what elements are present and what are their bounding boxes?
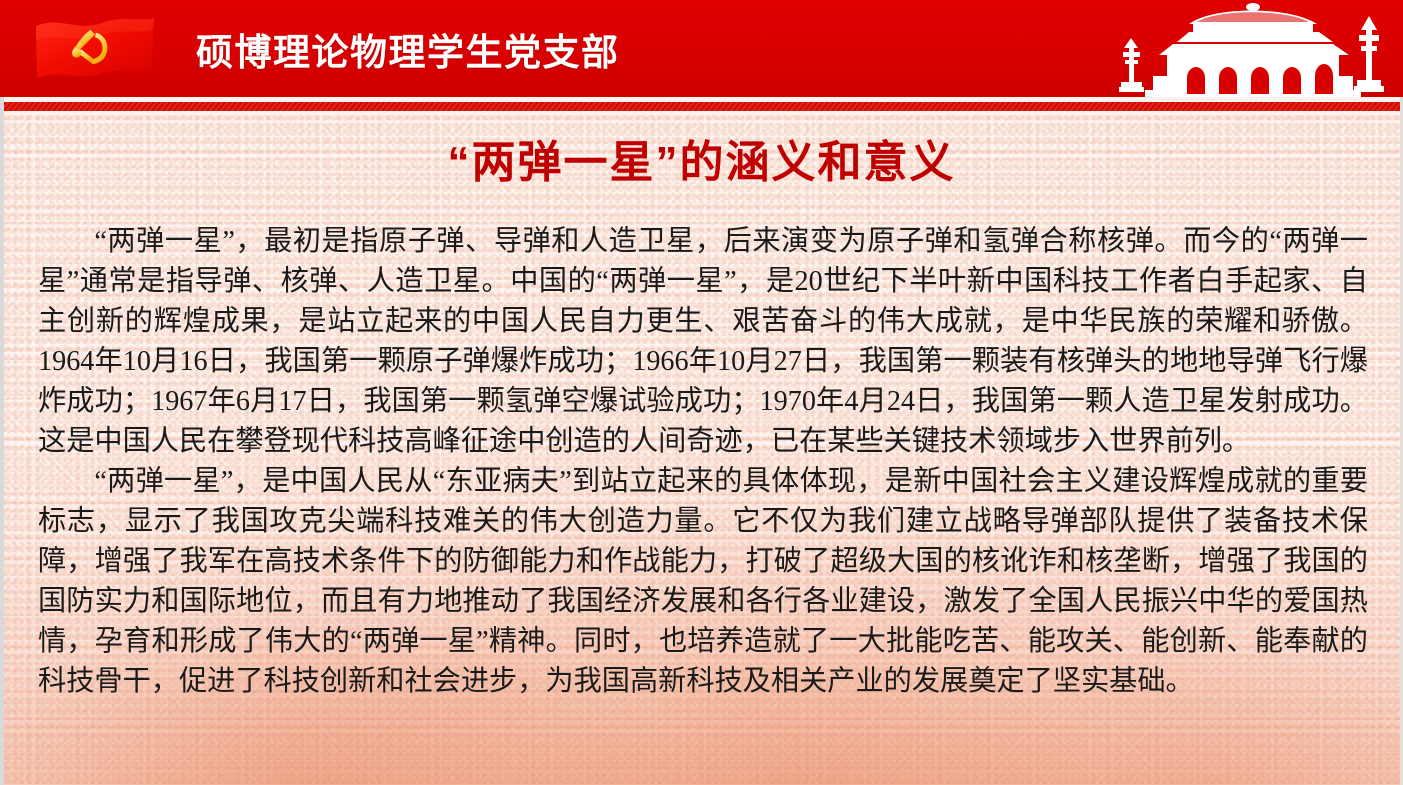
divider-striped-band: [0, 102, 1403, 111]
paragraph-2: “两弹一星”，是中国人民从“东亚病夫”到站立起来的具体体现，是新中国社会主义建设…: [38, 462, 1368, 702]
slide-header: 硕博理论物理学生党支部: [0, 0, 1403, 97]
header-title: 硕博理论物理学生党支部: [196, 22, 620, 76]
paragraph-1: “两弹一星”，最初是指原子弹、导弹和人造卫星，后来演变为原子弹和氢弹合称核弹。而…: [38, 222, 1368, 462]
page-edge-left: [0, 97, 4, 785]
tiananmen-gate-icon: [1093, 0, 1403, 97]
slide-title: “两弹一星”的涵义和意义: [0, 126, 1403, 190]
presentation-slide: 硕博理论物理学生党支部: [0, 0, 1403, 785]
party-flag-hammer-sickle-icon: [34, 12, 156, 86]
body-content: “两弹一星”，最初是指原子弹、导弹和人造卫星，后来演变为原子弹和氢弹合称核弹。而…: [38, 222, 1368, 702]
divider-under-gap: [0, 111, 1403, 115]
